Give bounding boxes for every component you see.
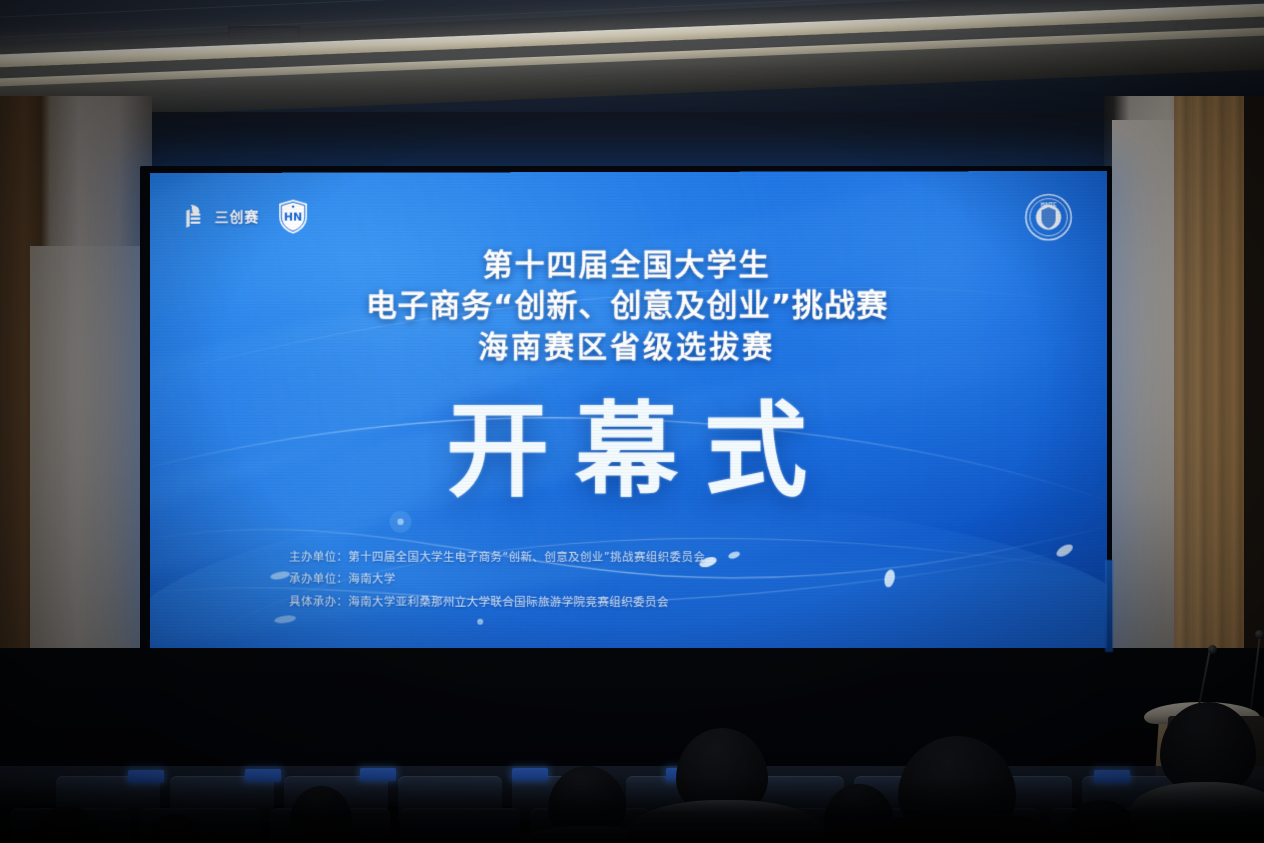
right-wall-panel — [1112, 120, 1174, 740]
room-background: 三创赛 HN HAITC — [0, 0, 1264, 843]
seat-placard — [1094, 770, 1130, 783]
seat — [400, 808, 520, 843]
side-display-sliver — [1105, 560, 1113, 652]
slide-title-line-1: 第十四届全国大学生 — [150, 245, 1107, 286]
slide-title-block: 第十四届全国大学生 电子商务“创新、创意及创业”挑战赛 海南赛区省级选拔赛 — [150, 245, 1107, 368]
microphone-head-icon — [1208, 645, 1217, 654]
hn-shield-icon: HN — [277, 199, 309, 235]
slide-title-line-2: 电子商务“创新、创意及创业”挑战赛 — [150, 285, 1107, 327]
microphone-head-icon — [1255, 630, 1264, 639]
svg-text:HN: HN — [284, 211, 302, 224]
seat-placard — [512, 768, 548, 781]
credit-line-organizer: 主办单位：第十四届全国大学生电子商务“创新、创意及创业”挑战赛组织委员会 — [289, 546, 705, 569]
ceiling-vent-icon — [228, 26, 300, 39]
screen-logo-row: 三创赛 HN — [178, 199, 309, 235]
sanchuang-logo-text: 三创赛 — [215, 207, 260, 227]
led-presentation-screen[interactable]: 三创赛 HN HAITC — [150, 171, 1107, 651]
auditorium-scene: 三创赛 HN HAITC — [0, 0, 1264, 843]
credit-line-executor: 具体承办：海南大学亚利桑那州立大学联合国际旅游学院竞赛组织委员会 — [289, 590, 705, 613]
credit-line-host: 承办单位：海南大学 — [289, 568, 705, 591]
svg-text:HAITC: HAITC — [1041, 202, 1057, 208]
slide-credits: 主办单位：第十四届全国大学生电子商务“创新、创意及创业”挑战赛组织委员会 承办单… — [289, 546, 705, 614]
haitc-circular-seal-icon: HAITC — [1024, 193, 1072, 241]
seat-placard — [128, 770, 164, 783]
sanchuang-leaf-book-icon — [178, 202, 208, 232]
sanchuang-logo: 三创赛 — [178, 202, 259, 232]
right-wall-wood-column — [1174, 96, 1244, 736]
seat-placard — [245, 769, 281, 782]
slide-headline: 开幕式 — [150, 400, 1107, 503]
slide-title-line-3: 海南赛区省级选拔赛 — [150, 327, 1107, 369]
seat-placard — [360, 768, 396, 781]
